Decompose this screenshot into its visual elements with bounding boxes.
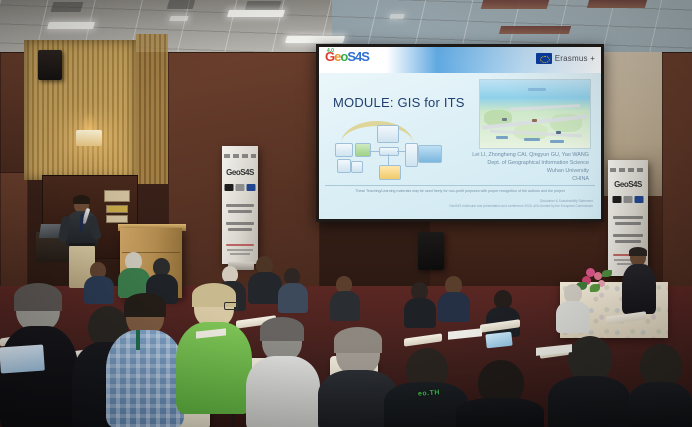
audience-member	[556, 284, 590, 330]
slide-author-department: Dept. of Geographical Information Scienc…	[472, 159, 589, 167]
slide-credit-block: Disclaimer & Sustainability Statement Ge…	[449, 199, 593, 209]
wall-sign	[104, 190, 130, 202]
banner-footer-line	[230, 253, 250, 255]
banner-top-strip	[224, 154, 256, 158]
ceiling-light	[47, 22, 95, 29]
attendee-suit	[622, 264, 656, 314]
audience-member-foreground	[456, 360, 544, 427]
wall-speaker	[38, 50, 62, 80]
banner-text-line	[226, 204, 253, 207]
ceiling-light	[227, 10, 285, 17]
standing-attendee-right	[620, 248, 660, 318]
slide-author-block: Lei LI, Zhongheng CAI, Qingyun GU, Yao W…	[472, 151, 589, 183]
audience-hair	[124, 293, 166, 317]
gis-architecture-diagram	[333, 121, 451, 183]
diagram-node-client	[335, 143, 353, 157]
diagram-node-device	[351, 161, 363, 173]
attendee-hair	[629, 247, 647, 256]
erasmus-logo: Erasmus +	[536, 53, 595, 64]
roll-up-banner-left: GeoS4S	[222, 146, 258, 264]
lanyard	[136, 330, 140, 350]
diagram-node-monitor	[355, 143, 371, 157]
ceiling-light	[169, 16, 188, 21]
ceiling-service-panel	[499, 26, 571, 34]
diagram-node-stack	[377, 125, 399, 143]
banner-footer-accent	[226, 244, 253, 246]
audience-member	[278, 268, 308, 310]
audience-member-foreground	[628, 344, 692, 427]
audience-member	[438, 276, 470, 320]
audience-hair	[14, 283, 62, 311]
wall-sign	[106, 215, 128, 223]
presenter-hair	[73, 195, 90, 204]
projected-slide: GeoS4S 4.0 Erasmus + MODULE: GIS for ITS	[319, 47, 601, 219]
floor-loudspeaker	[418, 232, 444, 270]
ceiling-vent	[167, 0, 196, 9]
banner-text-line	[615, 240, 641, 243]
presenter-belt	[69, 243, 95, 246]
slide-author-university: Wuhan University	[472, 167, 589, 175]
geos4s-logo-tagline: 4.0	[327, 48, 334, 54]
banner-partner-logos	[613, 196, 644, 203]
banner-text-line	[613, 216, 643, 219]
laptop-screen	[0, 344, 45, 373]
wall-wood-slats-right	[136, 34, 168, 184]
banner-footer-line	[227, 249, 253, 251]
diagram-node-server	[405, 143, 418, 167]
banner-text-line	[226, 222, 253, 225]
ceiling-service-panel	[481, 0, 550, 9]
audience-member	[404, 282, 436, 326]
audience-member-plaid-shirt	[106, 296, 184, 427]
ceiling-service-panel	[587, 0, 647, 8]
diagram-node-db	[379, 165, 401, 180]
banner-text-line	[613, 234, 643, 237]
audience-torso	[106, 330, 184, 427]
erasmus-label: Erasmus +	[555, 54, 595, 63]
banner-text-line	[228, 210, 251, 213]
mobile-phone-screen	[485, 332, 512, 349]
eu-flag-icon	[536, 53, 552, 64]
slide-author-country: CHINA	[472, 175, 589, 183]
wall-sconce-lamp	[76, 130, 102, 146]
banner-logo-right: GeoS4S	[614, 180, 642, 189]
ceiling-light	[285, 36, 345, 43]
ceiling-vent	[51, 2, 84, 12]
slide-title: MODULE: GIS for ITS	[333, 95, 465, 110]
audience-member	[248, 256, 282, 302]
its-smart-city-illustration	[479, 79, 591, 149]
slide-credit-line-2: GeoS4S molecular and presentation and co…	[449, 204, 593, 209]
banner-partner-logos	[225, 184, 256, 191]
wall-panel	[0, 172, 28, 292]
slide-footnote: These Teaching/Learning materials may be…	[325, 188, 595, 194]
audience-member-green-shirt	[176, 286, 252, 411]
banner-top-strip	[610, 168, 646, 172]
ceiling-light	[389, 14, 404, 19]
audience-member-foreground	[246, 320, 320, 427]
banner-text-line	[615, 222, 641, 225]
eyeglasses-icon	[224, 302, 238, 310]
projection-screen-frame: GeoS4S 4.0 Erasmus + MODULE: GIS for ITS	[316, 44, 604, 222]
diagram-node-device	[337, 159, 351, 173]
wall-panel-right-edge	[662, 52, 692, 292]
slide-footer-rule	[325, 185, 595, 186]
wall-sign	[106, 205, 128, 213]
diagram-node-hub	[379, 147, 399, 156]
slide-author-names: Lei LI, Zhongheng CAI, Qingyun GU, Yao W…	[472, 151, 589, 159]
conference-room-photo: GeoS4S 4.0 Erasmus + MODULE: GIS for ITS	[0, 0, 692, 427]
diagram-node-screen	[418, 145, 442, 163]
banner-text-line	[228, 228, 251, 231]
audience-member	[330, 276, 360, 318]
audience-torso	[0, 326, 78, 427]
banner-logo-left: GeoS4S	[226, 168, 254, 177]
